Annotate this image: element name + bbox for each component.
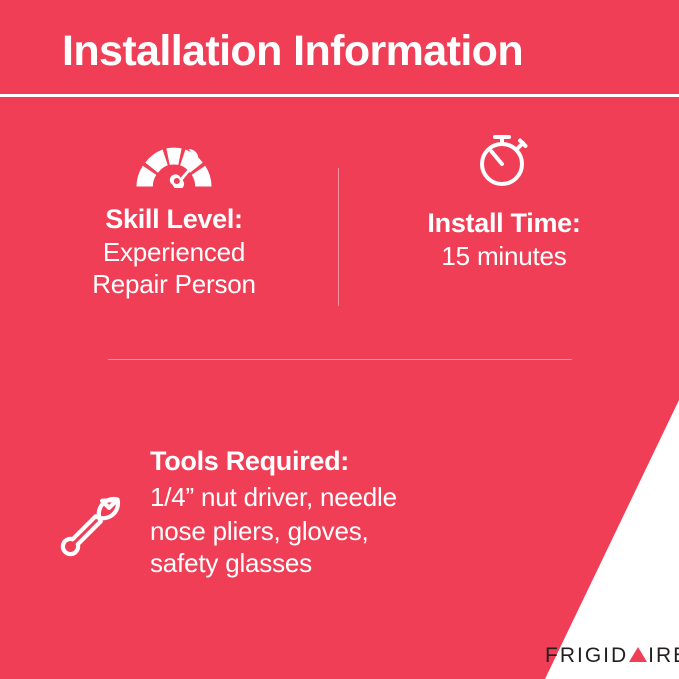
tools-required-line-2: nose pliers, gloves, xyxy=(150,515,550,547)
section-divider xyxy=(108,359,572,360)
header: Installation Information xyxy=(0,0,679,96)
skill-level-value-line-1: Experienced xyxy=(28,236,320,268)
page-title: Installation Information xyxy=(62,21,622,81)
wrench-icon xyxy=(60,485,132,557)
frigidaire-logo: FRIGID IRE ™ xyxy=(545,644,679,668)
install-time-value: 15 minutes xyxy=(358,240,650,272)
stopwatch-icon xyxy=(358,126,650,188)
skill-level-value-line-2: Repair Person xyxy=(28,268,320,300)
header-divider xyxy=(0,94,679,97)
top-section: Skill Level: Experienced Repair Person xyxy=(0,126,679,326)
skill-level-block: Skill Level: Experienced Repair Person xyxy=(28,126,320,300)
brand-text-part-2: IRE xyxy=(648,644,679,668)
tools-required-line-3: safety glasses xyxy=(150,547,550,579)
column-divider xyxy=(338,168,339,306)
tools-required-heading: Tools Required: xyxy=(150,443,550,479)
brand-text-part-1: FRIGID xyxy=(545,644,628,668)
brand-triangle-a-icon xyxy=(629,647,647,662)
gauge-wrench-icon xyxy=(28,126,320,188)
skill-level-heading: Skill Level: xyxy=(28,202,320,236)
install-time-block: Install Time: 15 minutes xyxy=(358,126,650,272)
install-time-heading: Install Time: xyxy=(358,206,650,240)
installation-information-card: Installation Information xyxy=(0,0,679,679)
tools-required-line-1: 1/4” nut driver, needle xyxy=(150,479,550,515)
tools-required-text: Tools Required: 1/4” nut driver, needle … xyxy=(150,443,550,579)
